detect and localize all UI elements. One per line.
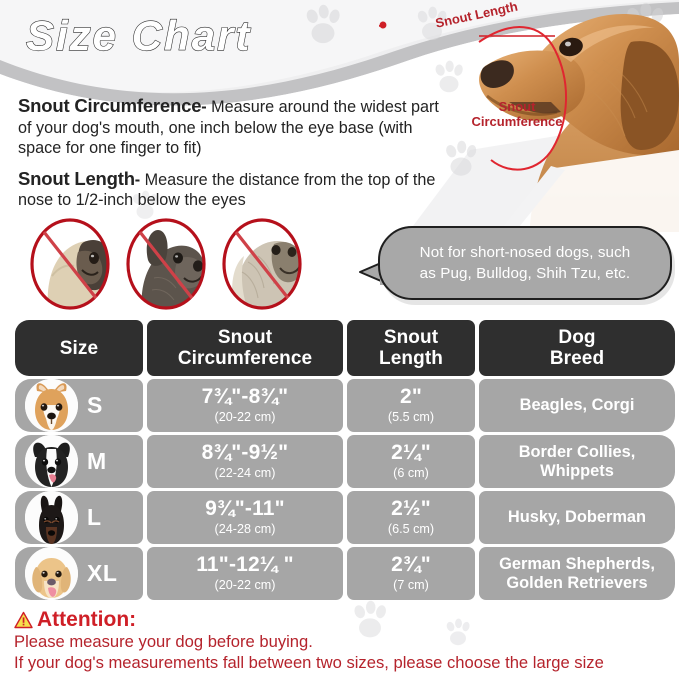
size-table: Size Snout Circumference Snout Length Do… xyxy=(15,320,675,603)
table-row: S 7¾"-8¾" (20-22 cm) 2" (5.5 cm) Beagles… xyxy=(15,379,675,432)
circ-inch: 9¾"-11" xyxy=(205,498,285,520)
row-breed-cell: Husky, Doberman xyxy=(479,491,675,544)
row-size-cell: S xyxy=(15,379,143,432)
short-nosed-warning-text: Not for short-nosed dogs, such as Pug, B… xyxy=(398,242,653,284)
row-breed-cell: Beagles, Corgi xyxy=(479,379,675,432)
circ-measure: 8¾"-9½" (22-24 cm) xyxy=(202,442,289,480)
circ-cm: (22-24 cm) xyxy=(202,467,289,480)
row-circumference-cell: 7¾"-8¾" (20-22 cm) xyxy=(147,379,343,432)
column-header-circ-line2: Circumference xyxy=(178,348,312,369)
table-header-row: Size Snout Circumference Snout Length Do… xyxy=(15,320,675,376)
instruction-circumference: Snout Circumference- Measure around the … xyxy=(18,96,450,159)
column-header-dog-breed: Dog Breed xyxy=(479,320,675,376)
circ-cm: (20-22 cm) xyxy=(202,411,289,424)
size-chart-page: Snout Length Snout Circumference Size Ch… xyxy=(0,0,679,679)
instruction-length: Snout Length- Measure the distance from … xyxy=(18,169,450,211)
short-nosed-warning-bubble: Not for short-nosed dogs, such as Pug, B… xyxy=(378,226,672,300)
len-cm: (5.5 cm) xyxy=(388,411,434,424)
table-row: L 9¾"-11" (24-28 cm) 2½" (6.5 cm) Husky,… xyxy=(15,491,675,544)
circ-cm: (20-22 cm) xyxy=(196,579,294,592)
term-snout-circumference: Snout Circumference xyxy=(18,95,201,116)
attention-line-1: Please measure your dog before buying. xyxy=(14,631,679,652)
column-header-circ-line1: Snout xyxy=(218,327,272,348)
circ-measure: 9¾"-11" (24-28 cm) xyxy=(205,498,285,536)
len-cm: (7 cm) xyxy=(391,579,431,592)
snout-circumference-label: Snout Circumference xyxy=(465,99,569,129)
row-size-cell: L xyxy=(15,491,143,544)
warning-triangle-icon xyxy=(14,611,33,629)
svg-text:Size Chart: Size Chart xyxy=(26,12,251,59)
term-snout-length: Snout Length xyxy=(18,168,135,189)
breed-label: Border Collies, Whippets xyxy=(479,443,675,481)
row-circumference-cell: 8¾"-9½" (22-24 cm) xyxy=(147,435,343,488)
size-label: XL xyxy=(87,560,117,587)
row-size-cell: XL xyxy=(15,547,143,600)
len-cm: (6.5 cm) xyxy=(388,523,434,536)
excluded-breed-pug xyxy=(22,218,118,310)
len-inch: 2½" xyxy=(388,498,434,520)
size-label: L xyxy=(87,504,102,531)
column-header-breed-line1: Dog xyxy=(558,327,595,348)
len-cm: (6 cm) xyxy=(391,467,431,480)
golden-retriever-photo-avatar xyxy=(25,547,78,600)
size-label: S xyxy=(87,392,103,419)
column-header-len-line1: Snout xyxy=(384,327,438,348)
bubble-line-2: as Pug, Bulldog, Shih Tzu, etc. xyxy=(420,265,631,282)
circ-cm: (24-28 cm) xyxy=(205,523,285,536)
row-size-cell: M xyxy=(15,435,143,488)
circ-measure: 7¾"-8¾" (20-22 cm) xyxy=(202,386,289,424)
row-length-cell: 2¾" (7 cm) xyxy=(347,547,475,600)
attention-title: Attention: xyxy=(37,608,136,631)
column-header-size: Size xyxy=(15,320,143,376)
breed-label: Beagles, Corgi xyxy=(512,396,643,415)
bubble-line-1: Not for short-nosed dogs, such xyxy=(420,244,631,261)
attention-line-2: If your dog's measurements fall between … xyxy=(14,652,679,673)
border-collie-photo-avatar xyxy=(25,435,78,488)
column-header-snout-circumference: Snout Circumference xyxy=(147,320,343,376)
breed-label: Husky, Doberman xyxy=(500,508,654,527)
measurement-instructions: Snout Circumference- Measure around the … xyxy=(18,96,450,211)
circ-inch: 7¾"-8¾" xyxy=(202,386,289,408)
corgi-photo-avatar xyxy=(25,379,78,432)
attention-heading: Attention: xyxy=(14,608,679,631)
circ-inch: 11"-12¼ " xyxy=(196,554,294,576)
circ-inch: 8¾"-9½" xyxy=(202,442,289,464)
snout-circumference-label-line2: Circumference xyxy=(471,114,562,129)
excluded-breed-french-bulldog xyxy=(118,218,214,310)
doberman-photo-avatar xyxy=(25,491,78,544)
table-row: M 8¾"-9½" (22-24 cm) 2¼" (6 cm) Border C… xyxy=(15,435,675,488)
row-length-cell: 2¼" (6 cm) xyxy=(347,435,475,488)
column-header-size-label: Size xyxy=(60,338,98,359)
column-header-breed-line2: Breed xyxy=(550,348,604,369)
row-circumference-cell: 9¾"-11" (24-28 cm) xyxy=(147,491,343,544)
len-inch: 2" xyxy=(388,386,434,408)
row-breed-cell: German Shepherds, Golden Retrievers xyxy=(479,547,675,600)
row-length-cell: 2" (5.5 cm) xyxy=(347,379,475,432)
page-title: Size Chart xyxy=(22,8,362,66)
len-measure: 2¼" (6 cm) xyxy=(391,442,431,480)
size-label: M xyxy=(87,448,107,475)
circ-measure: 11"-12¼ " (20-22 cm) xyxy=(196,554,294,592)
len-measure: 2½" (6.5 cm) xyxy=(388,498,434,536)
snout-length-measure-line xyxy=(379,22,386,47)
len-inch: 2¾" xyxy=(391,554,431,576)
column-header-breed-lines: Dog Breed xyxy=(550,327,604,369)
attention-notice: Attention: Please measure your dog befor… xyxy=(14,608,679,673)
snout-circumference-label-line1: Snout xyxy=(499,99,536,114)
excluded-breed-shih-tzu xyxy=(214,218,310,310)
row-length-cell: 2½" (6.5 cm) xyxy=(347,491,475,544)
breed-label: German Shepherds, Golden Retrievers xyxy=(479,555,675,593)
column-header-circ-lines: Snout Circumference xyxy=(178,327,312,369)
len-measure: 2" (5.5 cm) xyxy=(388,386,434,424)
column-header-snout-length: Snout Length xyxy=(347,320,475,376)
table-row: XL 11"-12¼ " (20-22 cm) 2¾" (7 cm) Germa… xyxy=(15,547,675,600)
len-inch: 2¼" xyxy=(391,442,431,464)
column-header-len-line2: Length xyxy=(379,348,443,369)
row-breed-cell: Border Collies, Whippets xyxy=(479,435,675,488)
len-measure: 2¾" (7 cm) xyxy=(391,554,431,592)
row-circumference-cell: 11"-12¼ " (20-22 cm) xyxy=(147,547,343,600)
column-header-len-lines: Snout Length xyxy=(379,327,443,369)
